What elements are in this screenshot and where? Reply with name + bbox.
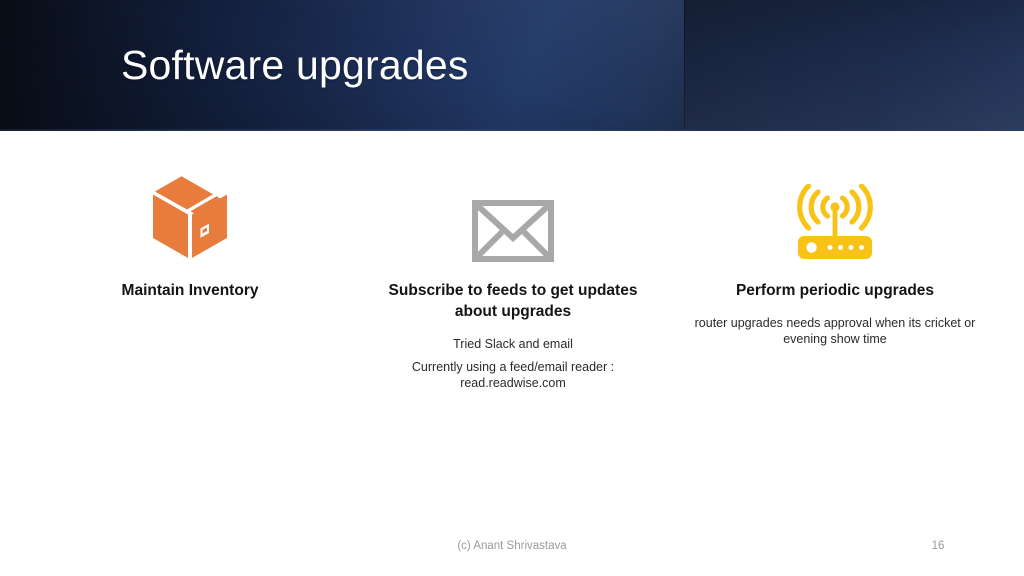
column-body: router upgrades needs approval when its …	[673, 315, 997, 347]
slide: Software upgrades Ma	[0, 0, 1024, 576]
column-body-line: Tried Slack and email	[367, 336, 659, 352]
column-maintain-inventory: Maintain Inventory	[28, 150, 352, 315]
column-heading: Maintain Inventory	[28, 280, 352, 301]
footer-credit: (c) Anant Shrivastava	[0, 540, 1024, 552]
column-body: Tried Slack and email Currently using a …	[351, 336, 675, 391]
banner-right-panel	[684, 0, 1024, 131]
banner-divider	[684, 0, 685, 131]
content-columns: Maintain Inventory Subscribe to feeds to…	[0, 150, 1024, 490]
wifi-router-icon	[673, 150, 997, 262]
column-heading: Perform periodic upgrades	[673, 280, 997, 301]
banner-bottom-edge	[0, 129, 1024, 131]
package-box-icon	[28, 150, 352, 262]
column-heading: Subscribe to feeds to get updates about …	[351, 280, 675, 322]
slide-number: 16	[890, 540, 986, 552]
column-subscribe-feeds: Subscribe to feeds to get updates about …	[351, 150, 675, 391]
column-body-line: router upgrades needs approval when its …	[689, 315, 981, 347]
column-periodic-upgrades: Perform periodic upgrades router upgrade…	[673, 150, 997, 347]
title-banner: Software upgrades	[0, 0, 1024, 131]
page-title: Software upgrades	[121, 40, 469, 90]
column-body-line: Currently using a feed/email reader : re…	[367, 359, 659, 391]
envelope-icon	[351, 150, 675, 262]
